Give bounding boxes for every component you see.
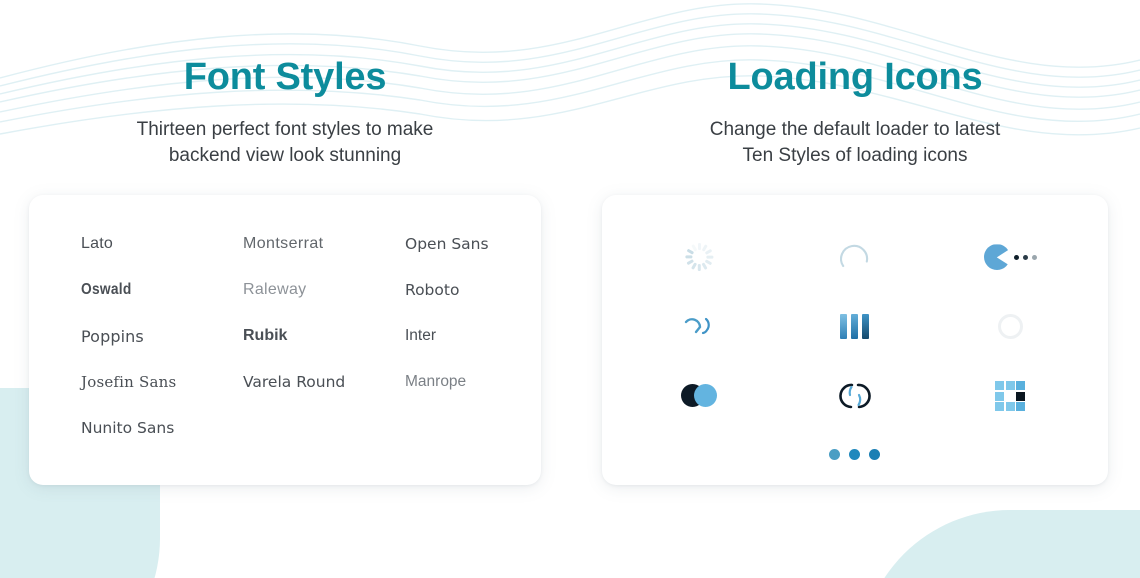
loading-icons-subtitle: Change the default loader to latest Ten … [710, 117, 1000, 169]
font-item-inter[interactable]: Inter [405, 327, 501, 345]
grid-cell-4 [995, 392, 1004, 401]
font-styles-subtitle-line-2: backend view look stunning [169, 145, 401, 166]
page-root: Font Styles Thirteen perfect font styles… [0, 0, 1140, 578]
loading-icons-title: Loading Icons [728, 58, 983, 98]
three-bars-spinner-icon [840, 314, 869, 339]
font-item-roboto[interactable]: Roboto [405, 281, 501, 299]
loading-icons-subtitle-line-1: Change the default loader to latest [710, 119, 1000, 140]
font-item-montserrat[interactable]: Montserrat [243, 235, 405, 253]
bar-2 [851, 314, 858, 339]
loader-icon-grid [622, 223, 1088, 477]
font-styles-subtitle: Thirteen perfect font styles to make bac… [137, 117, 434, 169]
grid-cell-5 [1006, 392, 1015, 401]
loader-option-two-circles[interactable] [672, 368, 728, 424]
loader-option-open-arc[interactable] [827, 229, 883, 285]
grid-cell-2 [1006, 381, 1015, 390]
loader-option-pacman[interactable] [982, 229, 1038, 285]
font-item-raleway[interactable]: Raleway [243, 281, 405, 299]
pacman-dot-2 [1023, 255, 1028, 260]
loading-icons-card [602, 195, 1108, 485]
three-dots-spinner-icon [829, 449, 880, 460]
font-item-oswald[interactable]: Oswald [81, 281, 220, 299]
panel-loading-icons: Loading Icons Change the default loader … [570, 0, 1140, 578]
font-styles-title: Font Styles [184, 58, 387, 98]
grid-cell-9 [1016, 402, 1025, 411]
double-curl-spinner-icon [683, 313, 717, 339]
dot-3 [869, 449, 880, 460]
loading-icons-subtitle-line-2: Ten Styles of loading icons [743, 145, 968, 166]
open-arc-spinner-icon [840, 242, 870, 272]
square-grid-spinner-icon [995, 381, 1025, 411]
font-styles-subtitle-line-1: Thirteen perfect font styles to make [137, 119, 434, 140]
pacman-dot-1 [1014, 255, 1019, 260]
font-item-manrope[interactable]: Manrope [405, 373, 501, 391]
grid-cell-6 [1016, 392, 1025, 401]
two-circles-spinner-icon [681, 384, 719, 408]
loader-option-three-dots[interactable] [829, 431, 880, 477]
font-item-nunito-sans[interactable]: Nunito Sans [81, 419, 243, 437]
loader-option-three-bars[interactable] [827, 298, 883, 354]
dot-1 [829, 449, 840, 460]
font-item-poppins[interactable]: Poppins [81, 327, 243, 346]
grid-cell-3 [1016, 381, 1025, 390]
bar-1 [840, 314, 847, 339]
panel-font-styles: Font Styles Thirteen perfect font styles… [0, 0, 570, 578]
pacman-dot-3 [1032, 255, 1037, 260]
loader-option-double-curl[interactable] [672, 298, 728, 354]
font-list: Lato Montserrat Open Sans Oswald Raleway… [81, 235, 501, 465]
faint-ring-spinner-icon [998, 314, 1023, 339]
circle-blue [694, 384, 717, 407]
font-item-lato[interactable]: Lato [81, 235, 243, 253]
font-item-varela-round[interactable]: Varela Round [243, 373, 405, 391]
font-item-josefin-sans[interactable]: Josefin Sans [81, 373, 243, 391]
dot-2 [849, 449, 860, 460]
font-styles-card: Lato Montserrat Open Sans Oswald Raleway… [29, 195, 541, 485]
loader-option-square-grid[interactable] [982, 368, 1038, 424]
pacman-dots-spinner-icon [984, 244, 1037, 270]
loader-option-facing-brackets[interactable] [827, 368, 883, 424]
bar-3 [862, 314, 869, 339]
loader-option-faint-ring[interactable] [982, 298, 1038, 354]
font-item-open-sans[interactable]: Open Sans [405, 235, 501, 253]
grid-cell-1 [995, 381, 1004, 390]
grid-cell-8 [1006, 402, 1015, 411]
loader-option-dashed-ring[interactable] [672, 229, 728, 285]
font-item-rubik[interactable]: Rubik [243, 327, 405, 345]
dashed-ring-spinner-icon [686, 243, 714, 271]
pacman-body [984, 244, 1010, 270]
facing-brackets-spinner-icon [839, 381, 871, 411]
grid-cell-7 [995, 402, 1004, 411]
